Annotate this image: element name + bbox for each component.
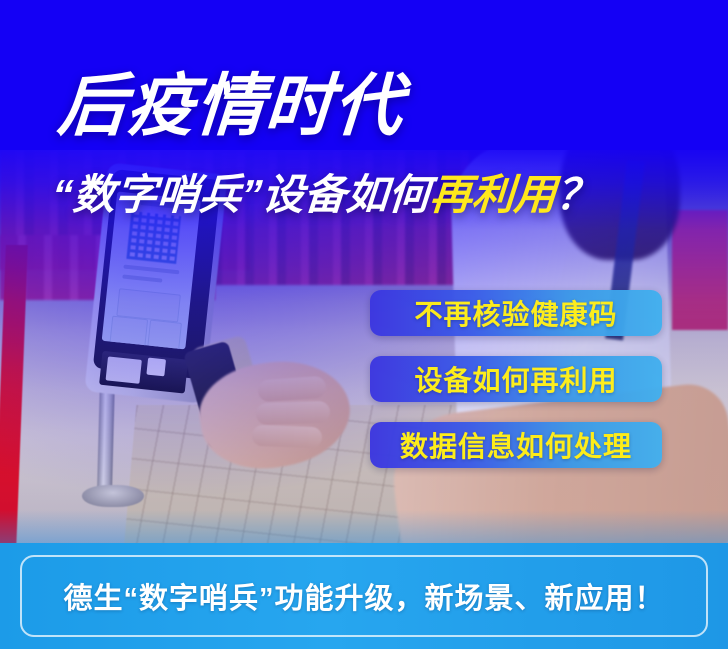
topic-pill-2[interactable]: 设备如何再利用 bbox=[370, 356, 662, 402]
topic-pill-3[interactable]: 数据信息如何处理 bbox=[370, 422, 662, 468]
topic-pill-1-label: 不再核验健康码 bbox=[414, 293, 617, 333]
topic-pill-1[interactable]: 不再核验健康码 bbox=[370, 290, 662, 336]
topic-pill-list: 不再核验健康码 设备如何再利用 数据信息如何处理 bbox=[370, 290, 662, 468]
subtitle-highlight: 再利用 bbox=[428, 171, 557, 218]
poster-canvas: 后疫情时代 “数字哨兵”设备如何再利用？ 不再核验健康码 设备如何再利用 数据信… bbox=[0, 0, 728, 649]
footer-banner-text: 德生“数字哨兵”功能升级，新场景、新应用！ bbox=[63, 575, 664, 617]
subtitle: “数字哨兵”设备如何再利用？ bbox=[51, 174, 600, 216]
subtitle-prefix: “数字哨兵”设备如何 bbox=[50, 171, 431, 218]
topic-pill-2-label: 设备如何再利用 bbox=[414, 359, 617, 399]
footer-banner-frame: 德生“数字哨兵”功能升级，新场景、新应用！ bbox=[20, 555, 708, 637]
subtitle-suffix: ？ bbox=[554, 171, 599, 218]
footer-banner: 德生“数字哨兵”功能升级，新场景、新应用！ bbox=[0, 543, 728, 649]
headline: 后疫情时代 bbox=[56, 72, 406, 140]
topic-pill-3-label: 数据信息如何处理 bbox=[400, 425, 632, 465]
